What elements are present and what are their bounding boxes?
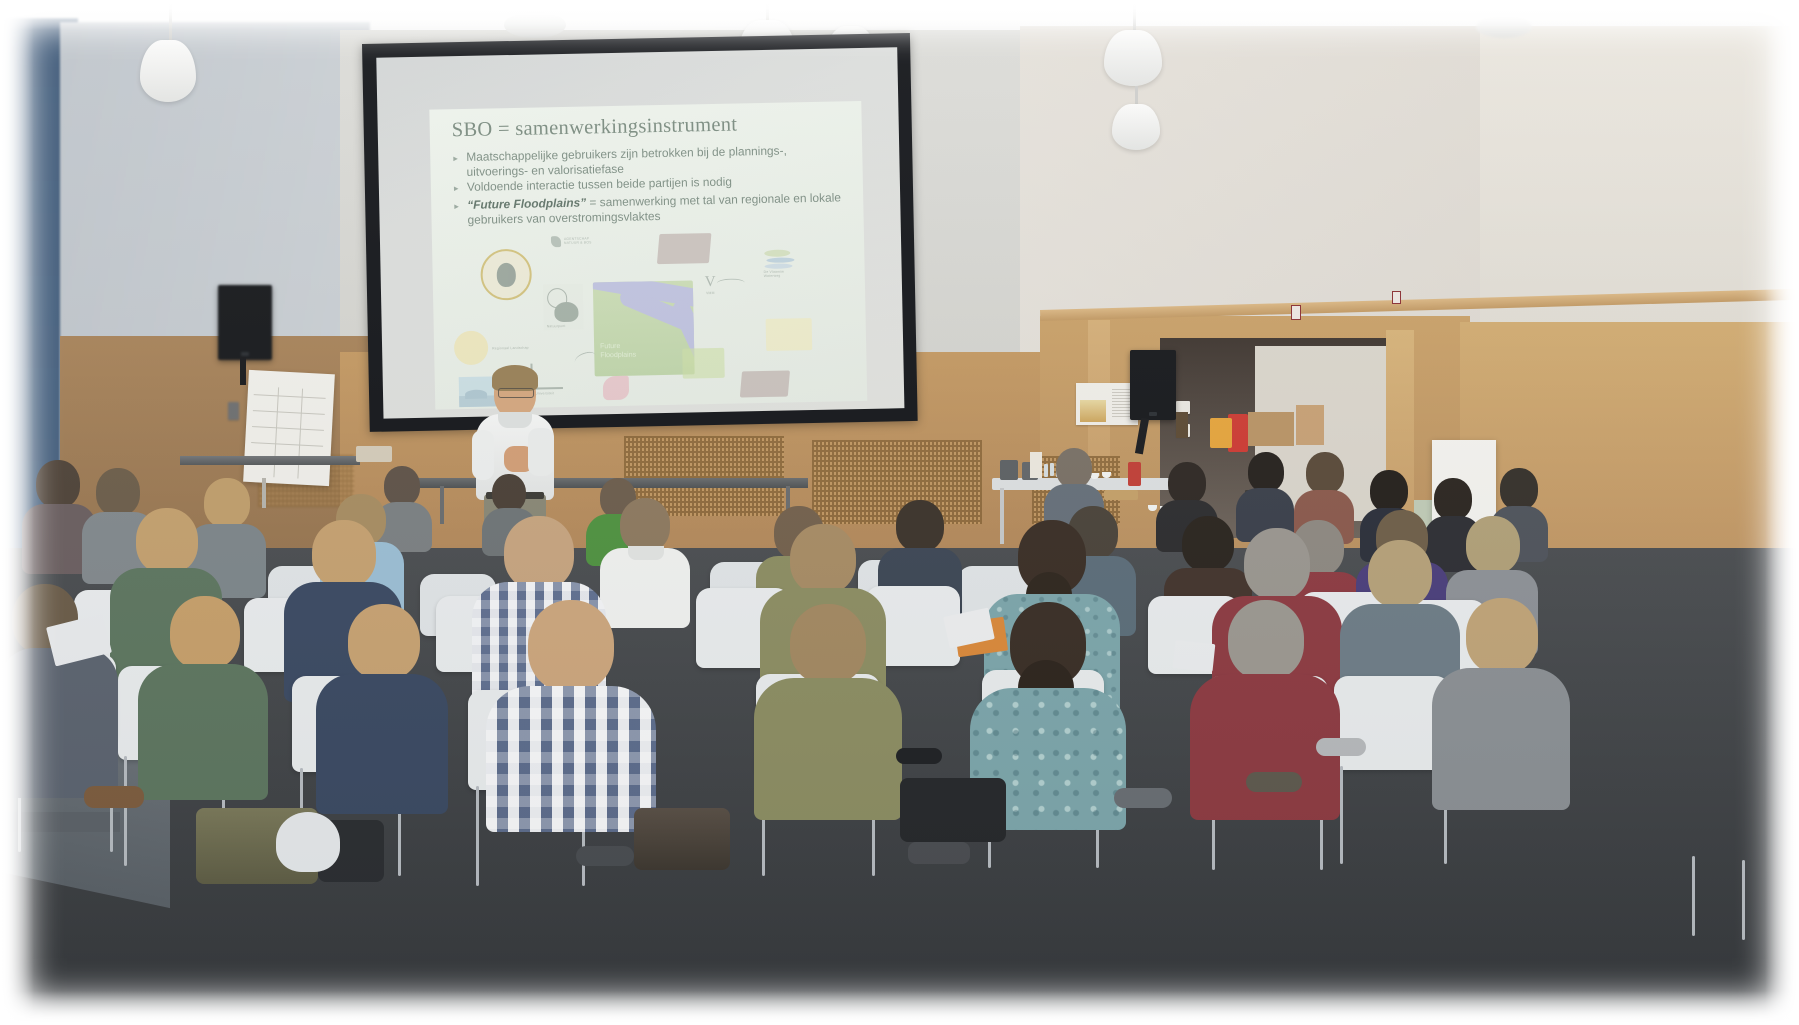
logo-green-box: [682, 348, 725, 379]
slide-bullet-3: ▸ “Future Floodplains” = samenwerking me…: [467, 190, 848, 227]
recessed-light-2: [1476, 16, 1532, 38]
head: [136, 508, 198, 574]
speaker-left-bracket: [240, 357, 246, 385]
pendant-lamp-rod-4: [1133, 0, 1136, 30]
black-bag: [900, 778, 1006, 842]
wall-plate-left: [228, 402, 239, 420]
bullet-marker-icon: ▸: [454, 199, 459, 214]
head: [1056, 448, 1092, 488]
logo-natuur-en-bos: AGENTSCHAP NATUUR & BOS: [551, 234, 605, 249]
speaker-right-mount: [1176, 412, 1188, 438]
head: [1168, 462, 1206, 504]
head: [790, 604, 866, 684]
wall-poster-image: [1080, 400, 1106, 422]
head: [790, 524, 856, 594]
flipchart-line: [253, 410, 325, 415]
logo-future-floodplains-map: Future Floodplains: [593, 280, 695, 376]
logo-sun-circle-icon: [454, 331, 489, 366]
door-sign: [1392, 291, 1401, 304]
pendant-lamp-shade-4: [1104, 30, 1162, 86]
head: [312, 520, 376, 588]
logo-yellow-box: [766, 318, 813, 351]
slide-bullet-1-text: Maatschappelijke gebruikers zijn betrokk…: [466, 143, 787, 178]
head: [1370, 470, 1408, 512]
head: [1368, 540, 1432, 608]
grey-bag: [634, 808, 730, 870]
head: [1248, 452, 1284, 492]
bullet-marker-icon: ▸: [454, 181, 459, 196]
logo-caption: De Vlaamse Waterweg: [764, 269, 799, 279]
table-box-items: [356, 446, 392, 462]
head: [504, 516, 574, 590]
recessed-light-1: [504, 12, 566, 38]
white-seat-shell: [276, 812, 340, 872]
head: [620, 498, 670, 552]
shoe: [1246, 772, 1302, 792]
wall-speaker-right: [1130, 350, 1176, 420]
shirt-collar: [628, 546, 664, 560]
audience-person-foreground: [138, 596, 268, 796]
napkin-holder: [1030, 452, 1042, 478]
paper-sheet: [1173, 640, 1216, 672]
logo-box-grey: [657, 233, 712, 264]
shoe: [84, 786, 144, 808]
chair-leg: [1340, 766, 1343, 864]
head: [1466, 598, 1538, 674]
chair-leg: [124, 756, 127, 866]
logo-caption: VMM: [706, 291, 715, 296]
head: [492, 474, 526, 512]
head: [1306, 452, 1344, 494]
presentation-slide: SBO = samenwerkingsinstrument ▸ Maatscha…: [429, 101, 867, 410]
chair-leg: [476, 786, 479, 886]
pendant-lamp-rod-1: [169, 0, 172, 40]
front-table-leg: [440, 486, 444, 524]
chair-leg: [1692, 856, 1695, 936]
head: [170, 596, 240, 670]
flipchart-line: [254, 394, 326, 399]
logo-seal-icon: [480, 249, 532, 301]
head: [348, 604, 420, 680]
wall-speaker-left: [218, 285, 272, 360]
red-thermos: [1128, 462, 1141, 486]
meeting-room-scene: SBO = samenwerkingsinstrument ▸ Maatscha…: [0, 0, 1799, 1025]
basket: [1104, 490, 1138, 500]
head: [1228, 600, 1304, 680]
head: [1500, 468, 1538, 510]
yellow-package: [1210, 418, 1232, 448]
cardboard-box: [1248, 412, 1294, 446]
photograph: SBO = samenwerkingsinstrument ▸ Maatscha…: [0, 0, 1799, 1025]
flipchart-line: [251, 442, 323, 447]
coffee-urn: [1000, 460, 1018, 480]
audience-person-foreground-checked: [486, 600, 656, 826]
torso-checked: [486, 686, 656, 832]
pendant-lamp-rod-2: [766, 0, 769, 22]
head: [1466, 516, 1520, 574]
front-table-left: [180, 456, 360, 465]
logo-waterweg-waves-icon: De Vlaamse Waterweg: [762, 247, 799, 276]
shoe: [576, 846, 634, 866]
audience-person-foreground: [316, 604, 448, 810]
exit-sign: [1291, 305, 1301, 320]
slide-bullet-3-emphasis: “Future Floodplains”: [467, 196, 586, 212]
flipchart-line: [252, 426, 324, 431]
pendant-lamp-shade-1: [140, 40, 196, 102]
shoe: [896, 748, 942, 764]
presenter-glasses-icon: [498, 388, 534, 398]
torso: [754, 678, 902, 820]
chair-leg: [1742, 860, 1745, 940]
logo-caption: Natuurpunt: [547, 324, 566, 329]
torso: [1432, 668, 1570, 810]
logo-box-grey-2: [740, 370, 790, 397]
presenter-arm-left: [472, 430, 494, 480]
shoe: [1114, 788, 1172, 808]
audience-person-foreground-olive: [754, 604, 902, 816]
bullet-marker-icon: ▸: [453, 151, 458, 166]
map-label: Future Floodplains: [600, 341, 656, 360]
logo-natuurpunt-duck-icon: Natuurpunt: [543, 284, 584, 331]
slide-title: SBO = samenwerkingsinstrument: [452, 113, 738, 142]
logo-caption-sun: Regionaal Landschap: [492, 345, 540, 350]
projector-screen-surface: SBO = samenwerkingsinstrument ▸ Maatscha…: [376, 47, 904, 418]
projector-screen: SBO = samenwerkingsinstrument ▸ Maatscha…: [362, 33, 918, 432]
presenter-collar: [498, 412, 532, 428]
logo-caption: AGENTSCHAP NATUUR & BOS: [564, 236, 604, 246]
torso: [138, 664, 268, 800]
cardboard-box: [1296, 405, 1324, 445]
logo-pink-shape-icon: [603, 376, 629, 401]
logo-vmm: V VMM: [705, 273, 747, 296]
pendant-lamp-shade-5: [1112, 104, 1160, 150]
torso: [0, 648, 118, 798]
audience-person-foreground-right: [1432, 598, 1570, 806]
shoe: [1316, 738, 1366, 756]
head: [528, 600, 614, 692]
presenter-arm-right: [528, 428, 554, 476]
head: [36, 460, 80, 508]
flipchart-divider: [297, 389, 303, 479]
flipchart-left: [243, 370, 335, 486]
torso: [316, 674, 448, 814]
head: [896, 500, 944, 552]
shoe-pair: [908, 842, 970, 864]
head: [1244, 528, 1310, 600]
